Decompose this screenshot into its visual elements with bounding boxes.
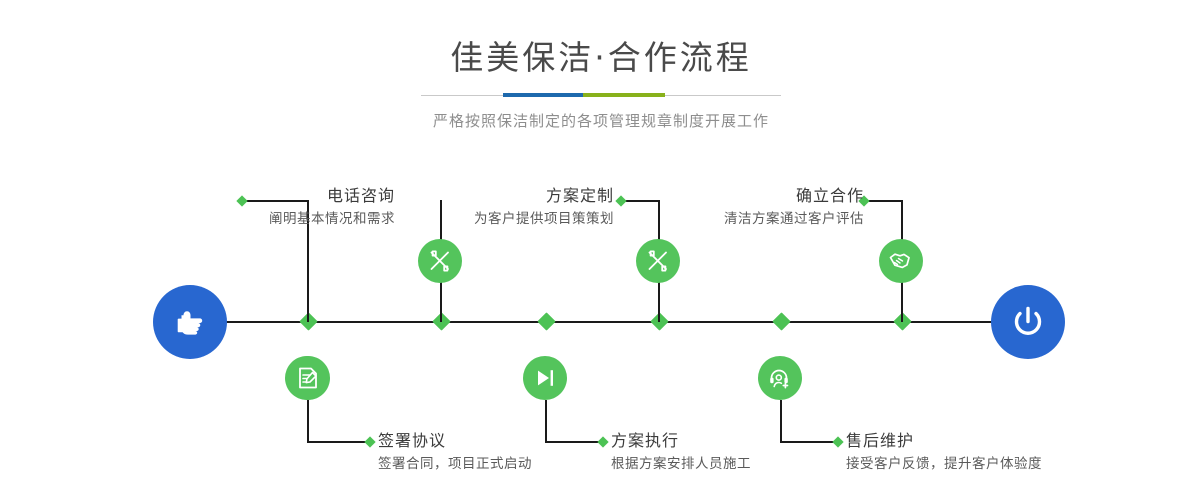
timeline-node-diamond (772, 312, 790, 330)
pencil-ruler-icon (645, 248, 671, 274)
power-icon (1007, 301, 1049, 343)
connector-horizontal (545, 441, 603, 443)
step-subtitle-2: 签署合同，项目正式启动 (378, 454, 532, 474)
process-timeline: 电话咨询 阐明基本情况和需求 (0, 0, 1202, 502)
play-execute-icon (532, 365, 558, 391)
handshake-icon (888, 248, 914, 274)
step-title-6: 售后维护 (846, 431, 1042, 451)
connector-tip-diamond (364, 436, 375, 447)
connector-vertical (307, 400, 309, 442)
step-icon-3[interactable] (418, 239, 462, 283)
step-icon-6[interactable] (758, 356, 802, 400)
pencil-ruler-icon (427, 248, 453, 274)
connector-vertical (780, 400, 782, 442)
step-subtitle-5: 清洁方案通过客户评估 (470, 209, 864, 229)
step-icon-2[interactable] (286, 356, 330, 400)
headset-support-icon (767, 365, 793, 391)
step-icon-5[interactable] (879, 239, 923, 283)
connector-tip-diamond (832, 436, 843, 447)
connector-horizontal (866, 200, 902, 202)
step-title-4: 方案执行 (611, 431, 751, 451)
step-subtitle-6: 接受客户反馈，提升客户体验度 (846, 454, 1042, 474)
step-title-5: 确立合作 (470, 186, 864, 206)
step-label-4: 方案执行 根据方案安排人员施工 (611, 431, 751, 474)
step-icon-4[interactable] (523, 356, 567, 400)
connector-horizontal (307, 441, 370, 443)
flowchart-page: 佳美保洁·合作流程 严格按照保洁制定的各项管理规章制度开展工作 (0, 0, 1202, 502)
connector-horizontal (780, 441, 838, 443)
timeline-start-endpoint[interactable] (153, 285, 227, 359)
step-label-5: 确立合作 清洁方案通过客户评估 (470, 186, 864, 229)
connector-tip-diamond (597, 436, 608, 447)
step-icon-3b[interactable] (636, 239, 680, 283)
step-label-6: 售后维护 接受客户反馈，提升客户体验度 (846, 431, 1042, 474)
connector-vertical (545, 400, 547, 442)
step-label-2: 签署协议 签署合同，项目正式启动 (378, 431, 532, 474)
timeline-node-diamond (537, 312, 555, 330)
document-edit-icon (295, 365, 321, 391)
pointing-hand-icon (170, 302, 210, 342)
step-subtitle-4: 根据方案安排人员施工 (611, 454, 751, 474)
timeline-end-endpoint[interactable] (991, 285, 1065, 359)
step-title-2: 签署协议 (378, 431, 532, 451)
